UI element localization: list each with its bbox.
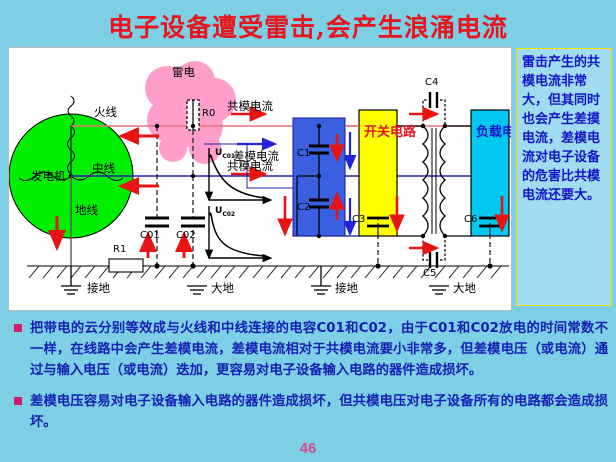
label-plot-uc02: UC02 [215, 206, 235, 218]
node-c01-earth [154, 263, 159, 268]
slide-root: 电子设备遭受雷击,会产生浪涌电流 [0, 0, 616, 462]
label-r1: R1 [113, 244, 126, 255]
node-c02-earth [190, 263, 195, 268]
node-c1-live [317, 124, 321, 128]
node-c2-return [317, 234, 321, 238]
cap-c01-symbol [145, 218, 169, 226]
cap-c6-branch [479, 218, 501, 269]
label-c1: C1 [297, 148, 310, 159]
label-c3: C3 [352, 214, 365, 225]
label-c6: C6 [464, 214, 477, 225]
label-c01: C01 [140, 230, 160, 241]
bullet-list: 把带电的云分别等效成与火线和中线连接的电容C01和C02，由于C01和C02放电… [8, 318, 612, 443]
earth-symbol-mid-left [187, 286, 207, 294]
bullet-item: 把带电的云分别等效成与火线和中线连接的电容C01和C02，由于C01和C02放电… [8, 318, 612, 381]
circuit-diagram: 发电机 火线 中线 地线 雷电 R0 R1 C01 C02 C1 C2 C3 C… [8, 47, 512, 311]
label-common-mode-1: 共模电流 [227, 98, 273, 114]
label-r0: R0 [202, 108, 215, 119]
bullet-item: 差模电压容易对电子设备输入电路的器件造成损坏，但共模电压对电子设备所有的电路都会… [8, 391, 612, 433]
node-c1c2-mid [317, 174, 321, 178]
label-earth-mid-left: 大地 [211, 280, 234, 296]
label-plot-uc01: UC01 [215, 148, 235, 160]
cap-c5-symbol [423, 236, 445, 268]
label-lightning: 雷电 [172, 64, 195, 80]
earth-symbol-mid-right [311, 266, 331, 294]
page-title: 电子设备遭受雷击,会产生浪涌电流 [0, 8, 616, 44]
bullet-square-icon [14, 397, 22, 405]
label-switch-circuit: 开关电路 [364, 120, 378, 146]
cap-c02-symbol [181, 218, 205, 226]
bullet-text: 把带电的云分别等效成与火线和中线连接的电容C01和C02，由于C01和C02放电… [30, 318, 608, 381]
page-number: 46 [0, 440, 616, 457]
label-live-wire: 火线 [94, 104, 117, 120]
label-common-mode-2: 共模电流 [227, 158, 273, 174]
label-earth-right: 大地 [453, 280, 476, 296]
label-earth-mid-right: 接地 [335, 280, 358, 296]
bullet-text: 差模电压容易对电子设备输入电路的器件造成损坏，但共模电压对电子设备所有的电路都会… [30, 391, 608, 433]
label-c02: C02 [176, 230, 196, 241]
label-c5: C5 [423, 268, 436, 279]
plot-uc01-subscript: C01 [222, 153, 235, 160]
bullet-square-icon [14, 324, 22, 332]
label-generator: 发电机 [31, 168, 66, 184]
node-c01-live [155, 124, 159, 128]
note-panel: 雷击产生的共模电流非常大，但其同时也会产生差摸电流，差模电流对电子设备的危害比共… [516, 48, 612, 306]
plot-uc02-subscript: C02 [222, 211, 235, 218]
transformer-symbol [397, 124, 471, 238]
label-neutral-wire: 中线 [92, 160, 115, 176]
cap-c3-branch [367, 218, 389, 269]
resistor-r1-symbol [109, 259, 143, 272]
earth-symbol-right [429, 286, 449, 294]
label-load-circuit: 负载电路 [476, 120, 490, 146]
cap-c4-symbol [423, 92, 445, 126]
label-ground-wire: 地线 [75, 204, 89, 217]
label-c2: C2 [297, 202, 310, 213]
label-c4: C4 [425, 77, 438, 88]
label-earth-left: 接地 [87, 280, 110, 296]
